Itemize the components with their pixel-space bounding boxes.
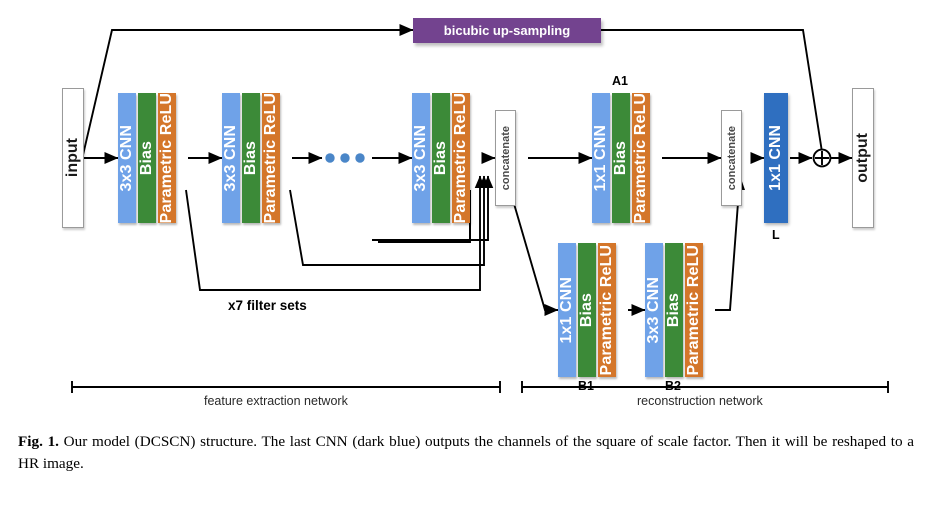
input-box: input [62, 88, 84, 228]
figure-1-dcscn-diagram: bicubic up-sampling input 3x3 CNN Bias P… [0, 0, 930, 508]
label-a1: A1 [612, 74, 628, 88]
relu-stripe: Parametric ReLU [262, 93, 280, 223]
recon-block-b2: 3x3 CNN Bias Parametric ReLU [645, 243, 715, 377]
caption-prefix: Fig. 1. [18, 433, 59, 450]
feature-block-1: 3x3 CNN Bias Parametric ReLU [118, 93, 188, 223]
output-label: output [854, 133, 872, 183]
label-b2: B2 [665, 379, 681, 393]
output-box: output [852, 88, 874, 228]
bicubic-upsampling-banner: bicubic up-sampling [413, 18, 601, 43]
bias-stripe: Bias [665, 243, 683, 377]
ellipsis-dots-icon [325, 153, 364, 162]
input-label: input [64, 138, 82, 177]
bias-stripe: Bias [432, 93, 450, 223]
recon-block-a1: 1x1 CNN Bias Parametric ReLU [592, 93, 662, 223]
l-conv-label: 1x1 CNN [767, 125, 785, 191]
bracket-label-feature-extraction: feature extraction network [204, 394, 348, 408]
sum-circle-plus-icon [814, 150, 831, 167]
concatenate-box-1: concatenate [495, 110, 516, 206]
conv-stripe: 3x3 CNN [118, 93, 136, 223]
relu-stripe: Parametric ReLU [158, 93, 176, 223]
figure-caption: Fig. 1. Our model (DCSCN) structure. The… [18, 431, 914, 474]
bias-stripe: Bias [242, 93, 260, 223]
conv-stripe: 3x3 CNN [412, 93, 430, 223]
conv-stripe: 1x1 CNN [592, 93, 610, 223]
relu-stripe: Parametric ReLU [685, 243, 703, 377]
label-b1: B1 [578, 379, 594, 393]
feature-block-2: 3x3 CNN Bias Parametric ReLU [222, 93, 292, 223]
concatenate-label: concatenate [726, 126, 738, 190]
bias-stripe: Bias [138, 93, 156, 223]
concatenate-label: concatenate [500, 126, 512, 190]
bias-stripe: Bias [612, 93, 630, 223]
bias-stripe: Bias [578, 243, 596, 377]
bracket-label-reconstruction: reconstruction network [637, 394, 763, 408]
label-l: L [772, 228, 780, 242]
recon-block-b1: 1x1 CNN Bias Parametric ReLU [558, 243, 628, 377]
relu-stripe: Parametric ReLU [598, 243, 616, 377]
feature-block-last: 3x3 CNN Bias Parametric ReLU [412, 93, 482, 223]
bicubic-upsampling-label: bicubic up-sampling [444, 23, 570, 38]
conv-stripe: 3x3 CNN [645, 243, 663, 377]
concatenate-box-2: concatenate [721, 110, 742, 206]
caption-text: Our model (DCSCN) structure. The last CN… [18, 433, 914, 472]
label-x7-filter-sets: x7 filter sets [228, 298, 307, 313]
relu-stripe: Parametric ReLU [452, 93, 470, 223]
conv-stripe: 3x3 CNN [222, 93, 240, 223]
conv-stripe: 1x1 CNN [558, 243, 576, 377]
relu-stripe: Parametric ReLU [632, 93, 650, 223]
final-cnn-block-l: 1x1 CNN [764, 93, 788, 223]
